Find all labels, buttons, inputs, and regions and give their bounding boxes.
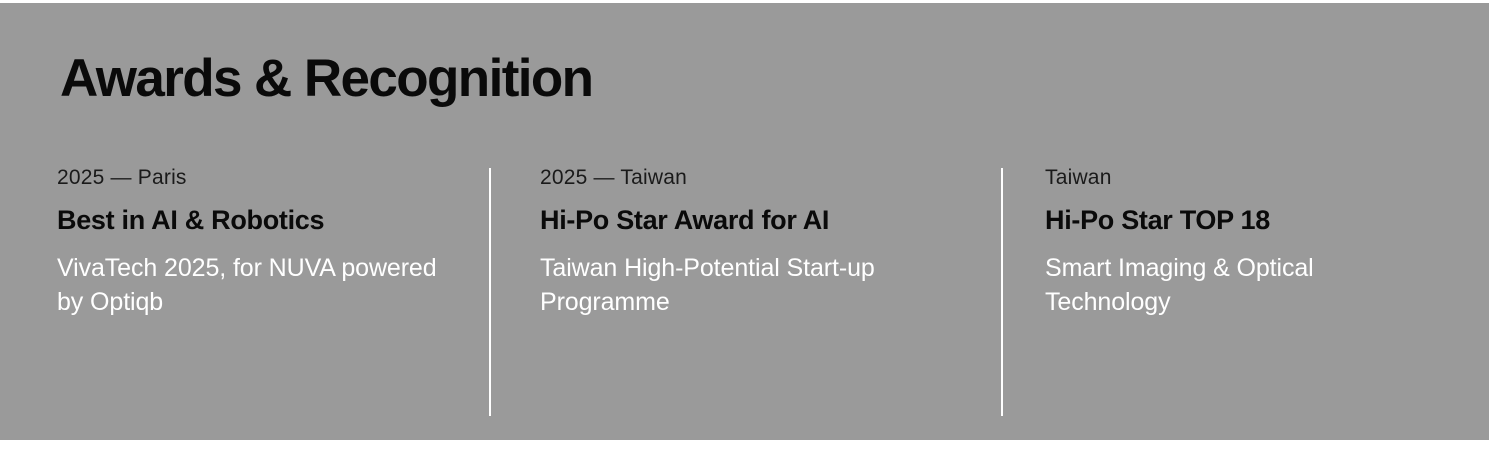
award-meta: 2025 — Paris bbox=[57, 165, 463, 190]
award-description: VivaTech 2025, for NUVA powered by Optiq… bbox=[57, 251, 463, 319]
award-title: Hi-Po Star Award for AI bbox=[540, 204, 975, 236]
award-description: Taiwan High-Potential Start-up Programme bbox=[540, 251, 975, 319]
award-meta: Taiwan bbox=[1045, 165, 1437, 190]
award-card: 2025 — Paris Best in AI & Robotics VivaT… bbox=[57, 165, 489, 319]
awards-list: 2025 — Paris Best in AI & Robotics VivaT… bbox=[57, 165, 1457, 319]
awards-recognition-section: Awards & Recognition 2025 — Paris Best i… bbox=[0, 3, 1489, 440]
award-description: Smart Imaging & Optical Technology bbox=[1045, 251, 1437, 319]
page-title: Awards & Recognition bbox=[60, 49, 592, 108]
award-title: Hi-Po Star TOP 18 bbox=[1045, 204, 1437, 236]
award-meta: 2025 — Taiwan bbox=[540, 165, 975, 190]
award-card: 2025 — Taiwan Hi-Po Star Award for AI Ta… bbox=[489, 165, 1001, 319]
award-card: Taiwan Hi-Po Star TOP 18 Smart Imaging &… bbox=[1001, 165, 1457, 319]
award-title: Best in AI & Robotics bbox=[57, 204, 463, 236]
